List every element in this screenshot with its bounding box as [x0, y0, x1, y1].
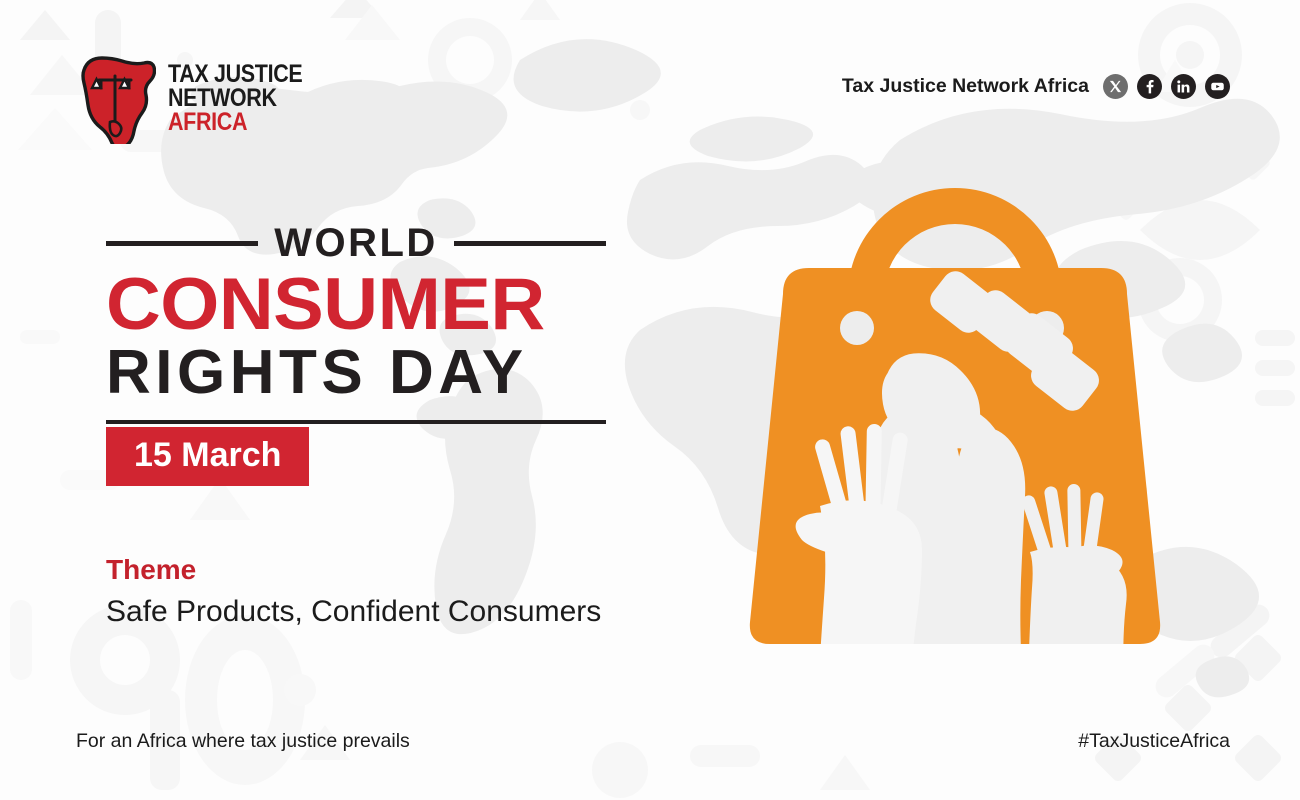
- logo-line-1: TAX JUSTICE: [168, 62, 302, 86]
- x-twitter-icon[interactable]: [1103, 74, 1128, 99]
- world-row: WORLD: [106, 222, 606, 264]
- footer-hashtag: #TaxJusticeAfrica: [1078, 730, 1230, 753]
- bag-eyelet-left: [840, 311, 874, 345]
- shopping-bag-illustration: [730, 110, 1180, 680]
- headline-word-bottom: RIGHTS DAY: [106, 342, 606, 404]
- social-handle-label: Tax Justice Network Africa: [842, 75, 1089, 98]
- logo-line-3: AFRICA: [168, 110, 302, 134]
- x-twitter-glyph: [1108, 79, 1123, 94]
- date-badge: 15 March: [106, 427, 309, 486]
- theme-value: Safe Products, Confident Consumers: [106, 595, 601, 629]
- rule-right: [454, 241, 606, 246]
- theme-label: Theme: [106, 554, 196, 586]
- headline-word-mid: CONSUMER: [106, 270, 626, 340]
- headline-block: WORLD CONSUMER RIGHTS DAY: [106, 222, 606, 404]
- facebook-icon[interactable]: [1137, 74, 1162, 99]
- poster-canvas: TAX JUSTICE NETWORK AFRICA Tax Justice N…: [0, 0, 1300, 800]
- logo-line-2: NETWORK: [168, 86, 302, 110]
- youtube-glyph: [1210, 79, 1225, 94]
- headline-word-top: WORLD: [274, 221, 438, 266]
- footer-tagline: For an Africa where tax justice prevails: [76, 730, 410, 753]
- facebook-glyph: [1142, 79, 1157, 94]
- linkedin-glyph: [1176, 79, 1191, 94]
- africa-scales-logo-icon: [74, 52, 156, 144]
- logo-wordmark: TAX JUSTICE NETWORK AFRICA: [168, 62, 324, 134]
- youtube-icon[interactable]: [1205, 74, 1230, 99]
- brand-logo[interactable]: TAX JUSTICE NETWORK AFRICA: [74, 52, 324, 144]
- linkedin-icon[interactable]: [1171, 74, 1196, 99]
- headline-underline: [106, 420, 606, 424]
- social-media-row: Tax Justice Network Africa: [842, 74, 1230, 99]
- rule-left: [106, 241, 258, 246]
